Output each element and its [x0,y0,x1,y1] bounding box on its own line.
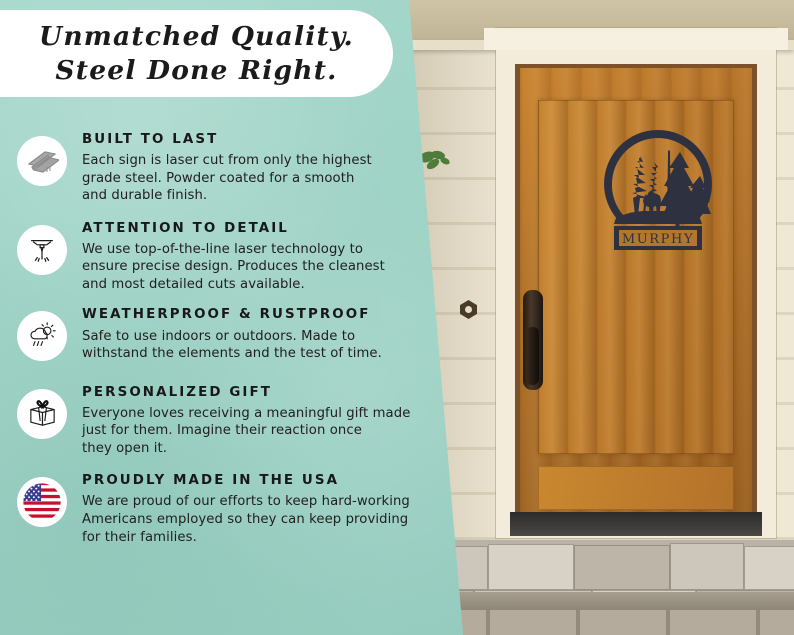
feature-title: PERSONALIZED GIFT [82,385,410,401]
feature-body: We are proud of our efforts to keep hard… [82,493,410,546]
feature-item-built-to-last: BUILT TO LAST Each sign is laser cut fro… [0,122,470,205]
sun-cloud-rain-icon [17,311,67,361]
feature-text-block: WEATHERPROOF & RUSTPROOF Safe to use ind… [67,297,382,362]
feature-body: Each sign is laser cut from only the hig… [82,152,372,205]
sign-name-text: MURPHY [622,232,694,247]
door-handle-grip [526,327,539,385]
headline-line-2: Steel Done Right. [55,54,337,87]
door-casing-header [484,28,788,50]
headline-card: Unmatched Quality. Steel Done Right. [0,10,393,97]
feature-item-personalized-gift: PERSONALIZED GIFT Everyone loves receivi… [0,375,470,458]
feature-text-block: PERSONALIZED GIFT Everyone loves receivi… [67,375,410,458]
headline-line-1: Unmatched Quality. [39,20,354,53]
feature-title: BUILT TO LAST [82,132,372,148]
feature-list: BUILT TO LAST Each sign is laser cut fro… [0,122,470,554]
feature-text-block: BUILT TO LAST Each sign is laser cut fro… [67,122,372,205]
door-bottom-rail [538,466,734,510]
feature-text-block: ATTENTION TO DETAIL We use top-of-the-li… [67,211,385,294]
infographic-canvas: MURPHY [0,0,794,635]
feature-body: We use top-of-the-line laser technology … [82,241,385,294]
feature-title: WEATHERPROOF & RUSTPROOF [82,307,382,323]
feature-body: Everyone loves receiving a meaningful gi… [82,405,410,458]
feature-item-made-in-usa: PROUDLY MADE IN THE USA We are proud of … [0,463,470,546]
gift-box-icon [17,389,67,439]
feature-text-block: PROUDLY MADE IN THE USA We are proud of … [67,463,410,546]
door-threshold [510,512,762,536]
feature-body: Safe to use indoors or outdoors. Made to… [82,328,382,363]
laser-cutter-icon [17,225,67,275]
steel-i-beam-icon [17,136,67,186]
usa-flag-icon [17,477,67,527]
feature-title: ATTENTION TO DETAIL [82,221,385,237]
feature-item-weatherproof: WEATHERPROOF & RUSTPROOF Safe to use ind… [0,297,470,362]
feature-title: PROUDLY MADE IN THE USA [82,473,410,489]
custom-metal-door-sign: MURPHY [596,126,720,258]
feature-item-attention-to-detail: ATTENTION TO DETAIL We use top-of-the-li… [0,211,470,294]
